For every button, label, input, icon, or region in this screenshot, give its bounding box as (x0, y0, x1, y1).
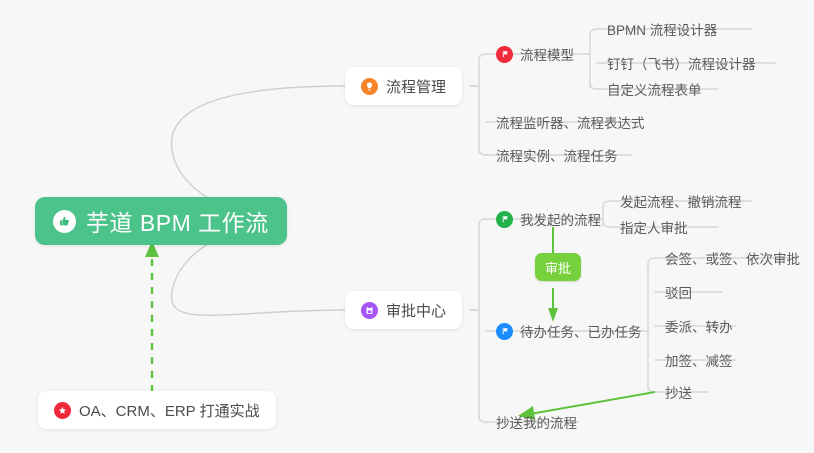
root-label: 芋道 BPM 工作流 (86, 204, 269, 238)
node-add-remove-sign[interactable]: 加签、减签 (658, 347, 739, 373)
node-label: 待办任务、已办任务 (520, 321, 642, 341)
node-process-model[interactable]: 流程模型 (489, 41, 580, 67)
branch-process-management[interactable]: 流程管理 (345, 67, 462, 105)
node-label: 自定义流程表单 (607, 79, 702, 99)
node-process-listener-expression[interactable]: 流程监听器、流程表达式 (489, 109, 651, 135)
approval-flow-tag: 审批 (535, 253, 581, 281)
node-label: 委派、转办 (665, 316, 733, 336)
node-reject[interactable]: 驳回 (658, 279, 698, 305)
node-label: 抄送我的流程 (496, 412, 577, 432)
node-label: 发起流程、撤销流程 (620, 191, 742, 211)
node-label: 会签、或签、依次审批 (665, 248, 800, 268)
star-icon (54, 402, 71, 419)
flag-icon (496, 46, 513, 63)
node-label: 抄送 (665, 382, 692, 402)
node-label: 驳回 (665, 282, 692, 302)
node-countersign-or-sign-sequential[interactable]: 会签、或签、依次审批 (658, 245, 806, 271)
node-label: 流程实例、流程任务 (496, 145, 618, 165)
node-start-cancel-process[interactable]: 发起流程、撤销流程 (613, 188, 748, 214)
lightbulb-icon (361, 78, 378, 95)
node-custom-process-form[interactable]: 自定义流程表单 (600, 76, 708, 102)
flag-icon (496, 211, 513, 228)
approval-tag-label: 审批 (545, 258, 571, 277)
node-bpmn-designer[interactable]: BPMN 流程设计器 (600, 16, 723, 42)
node-todo-done-tasks[interactable]: 待办任务、已办任务 (489, 318, 648, 344)
wire-pmodel-corner-bottom (590, 82, 597, 89)
thumbs-up-icon (53, 210, 76, 233)
node-label: 加签、减签 (665, 350, 733, 370)
root-node[interactable]: 芋道 BPM 工作流 (35, 197, 287, 245)
branch-label: 审批中心 (386, 300, 446, 321)
wire-ac-corner-top (479, 219, 486, 226)
node-cc[interactable]: 抄送 (658, 379, 698, 405)
wire-todo-corner-bottom (648, 385, 655, 392)
wire-pmodel-corner-top (590, 29, 597, 36)
bottom-note-label: OA、CRM、ERP 打通实战 (79, 400, 260, 421)
node-process-instance-task[interactable]: 流程实例、流程任务 (489, 142, 624, 168)
flag-icon (496, 323, 513, 340)
node-designated-approver[interactable]: 指定人审批 (613, 214, 694, 240)
node-label: 流程监听器、流程表达式 (496, 112, 645, 132)
node-dingtalk-feishu-designer[interactable]: 钉钉（飞书）流程设计器 (600, 50, 762, 76)
branch-label: 流程管理 (386, 76, 446, 97)
node-label: 钉钉（飞书）流程设计器 (607, 53, 756, 73)
bottom-note-card[interactable]: OA、CRM、ERP 打通实战 (38, 391, 276, 429)
wire-pm-corner-bottom (479, 148, 486, 155)
wire-ac-corner-bottom (479, 415, 486, 422)
branch-approval-center[interactable]: 审批中心 (345, 291, 462, 329)
node-cc-to-me-process[interactable]: 抄送我的流程 (489, 409, 583, 435)
node-label: BPMN 流程设计器 (607, 19, 717, 39)
node-delegate-transfer[interactable]: 委派、转办 (658, 313, 739, 339)
node-my-initiated-process[interactable]: 我发起的流程 (489, 206, 607, 232)
mindmap-canvas: 芋道 BPM 工作流 流程管理 审批中心 (0, 0, 814, 453)
wire-pm-corner-top (479, 54, 486, 61)
node-label: 我发起的流程 (520, 209, 601, 229)
node-label: 流程模型 (520, 44, 574, 64)
node-label: 指定人审批 (620, 217, 688, 237)
wire-todo-corner-top (648, 258, 655, 265)
clipboard-icon (361, 302, 378, 319)
